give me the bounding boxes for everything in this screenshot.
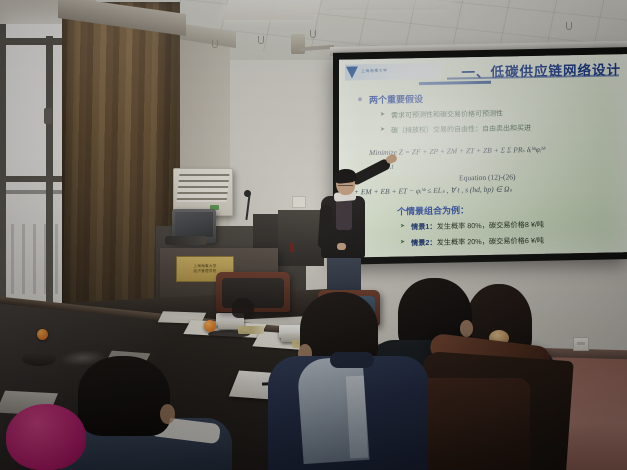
ac-louvers [177,174,230,202]
presentation-room-photo: 上海海事大学 一、低碳供应链网络设计 两个重要假设 需求可预测性和碳交易价格可预… [0,0,627,470]
orange-fruit [37,329,48,340]
audience-center-ear [460,320,473,337]
food-items [238,326,264,334]
audience-front-hair [78,356,170,436]
presenter-glasses-icon [338,181,353,186]
slide-scenario-1-label: 情景1： [411,222,437,231]
ceiling-hook-icon-3 [310,30,316,38]
slide-logo-banner [345,63,441,81]
ceiling-hook-icon-2 [258,36,264,44]
presenter-vest [336,200,352,230]
wall-outlet-upper[interactable] [292,196,306,208]
slide-bullet-2: 碳（排放权）交易的自由性：自由卖出和买进 [391,123,531,136]
pink-object [6,404,86,470]
ceiling-hook-icon [212,40,218,48]
window-mullion-left [0,24,6,324]
window-handle[interactable] [44,108,52,124]
podium-side-box-2 [278,210,324,266]
projector-screen-frame: 上海海事大学 一、低碳供应链网络设计 两个重要假设 需求可预测性和碳交易价格可预… [333,47,627,265]
slide-scenario-1: 情景1：发生概率 80%，碳交易价格8 ¥/吨 [411,220,544,233]
desk-cables [165,236,207,245]
slide-heading: 两个重要假设 [369,92,423,106]
wall-speaker [291,34,305,54]
wall-outlet[interactable] [573,337,589,351]
microphone-icon [244,190,251,197]
monitor-screen [175,212,213,237]
slide-scenario-1-text: 发生概率 80%，碳交易价格8 ¥/吨 [437,220,544,231]
projected-slide: 上海海事大学 一、低碳供应链网络设计 两个重要假设 需求可预测性和碳交易价格可预… [339,54,627,258]
ceiling-light-panel [221,0,322,20]
presenter-hand [337,243,346,250]
slide-scenario-2-label: 情景2： [411,238,437,247]
ceiling-hook-icon-4 [566,22,572,30]
slide-example-heading: 个情景组合为例： [397,203,469,217]
slide-logo-rule [419,81,491,85]
slide-equation-reference: Equation (12)-(26) [459,172,515,182]
slide-logo-text: 上海海事大学 [361,68,387,75]
slide-scenario-2-text: 发生概率 20%，碳交易价格6 ¥/吨 [437,236,544,247]
equipment-led-icon [290,243,294,252]
lectern-plaque-text: 上海海事大学经济管理学院 [193,264,216,275]
distant-head [232,298,254,318]
audience-jacket-collar [330,352,374,368]
audience-front-ear [160,404,175,424]
slide-equation-constraint: EP + EM + EB + ET − φᵢʰᵇ ≤ ELₛ , ∀ t , s… [343,184,512,196]
cup-reflection [22,352,56,366]
slide-scenario-2: 情景2：发生概率 20%，碳交易价格6 ¥/吨 [411,236,544,249]
orange-fruit [204,320,216,332]
ceiling-light-panel-2 [327,0,453,10]
slide-bullet-1: 需求可预测性和碳交易价格可预测性 [391,109,503,121]
